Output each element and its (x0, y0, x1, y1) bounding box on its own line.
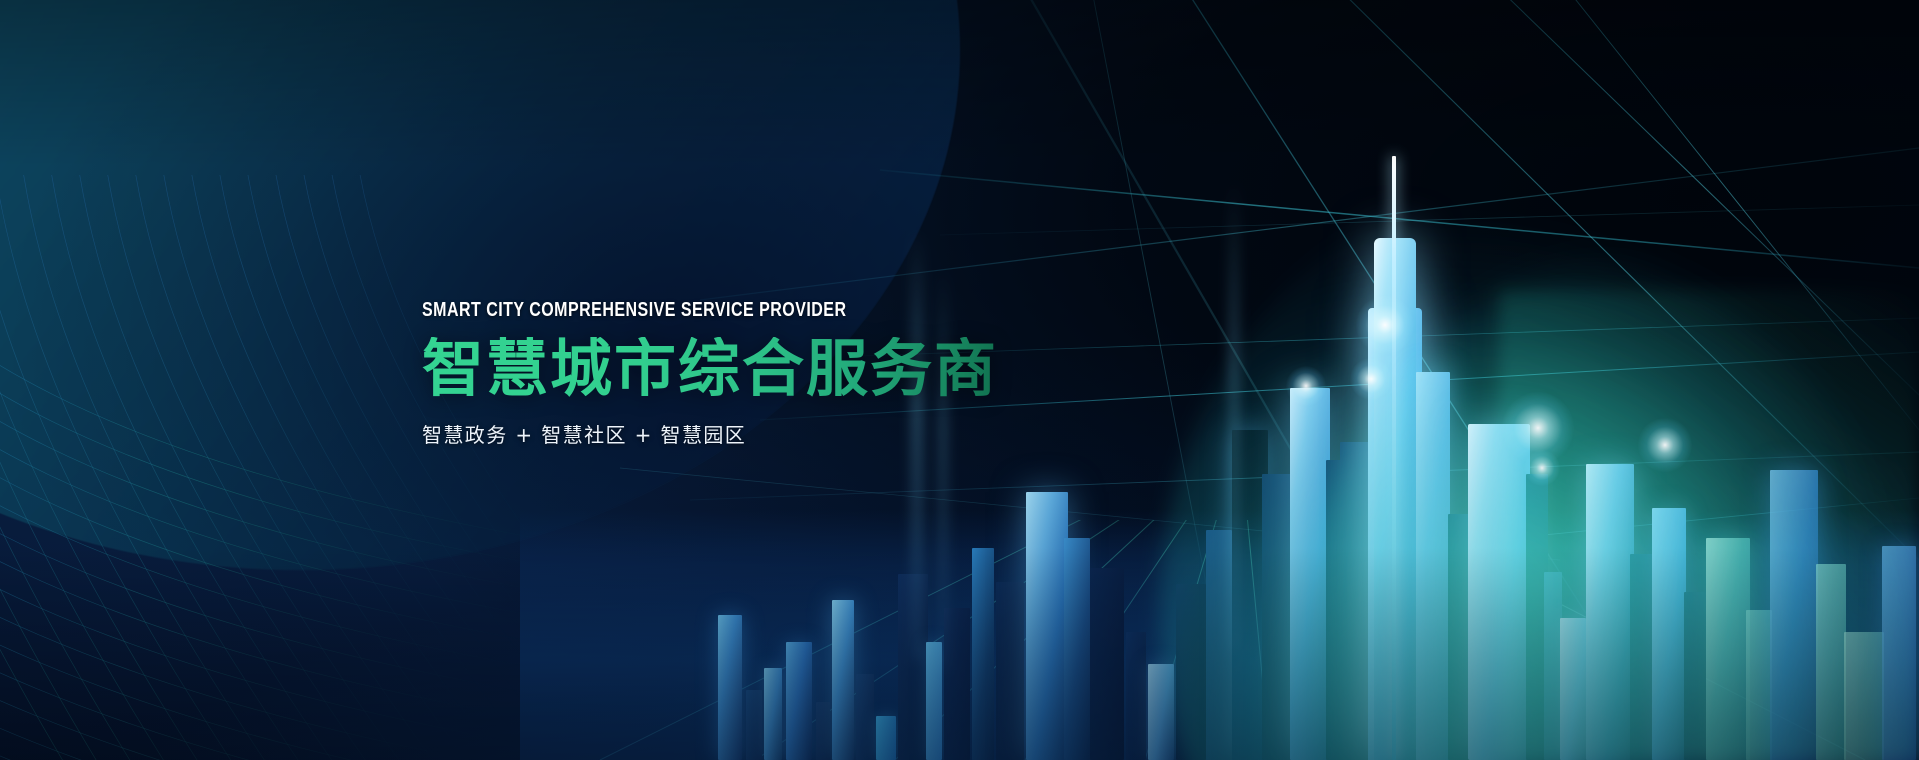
building-slab (972, 548, 994, 760)
building-slab (926, 642, 942, 760)
building-slab (876, 716, 896, 760)
hero-subline-text: 智慧政务 + 智慧社区 + 智慧园区 (422, 419, 998, 448)
building-slab (1126, 632, 1146, 760)
building-slab (898, 574, 928, 760)
building-slab (746, 690, 762, 760)
building-slab (1064, 538, 1090, 760)
building-slab (1090, 568, 1124, 760)
building-slab (832, 600, 854, 760)
hero-headline-text: 智慧城市综合服务商 (422, 337, 998, 400)
hero-copy-block: SMART CITY COMPREHENSIVE SERVICE PROVIDE… (422, 300, 998, 448)
building-slab (764, 668, 782, 760)
hero-banner: SMART CITY COMPREHENSIVE SERVICE PROVIDE… (0, 0, 1919, 760)
green-corner-glow (1499, 290, 1919, 760)
building-slab (996, 582, 1024, 760)
building-tower (1026, 492, 1068, 760)
building-slab (718, 615, 742, 760)
building-slab (786, 642, 812, 760)
hero-eyebrow-text: SMART CITY COMPREHENSIVE SERVICE PROVIDE… (422, 300, 883, 320)
building-slab (944, 608, 970, 760)
building-slab (816, 702, 830, 760)
building-slab (856, 674, 874, 760)
